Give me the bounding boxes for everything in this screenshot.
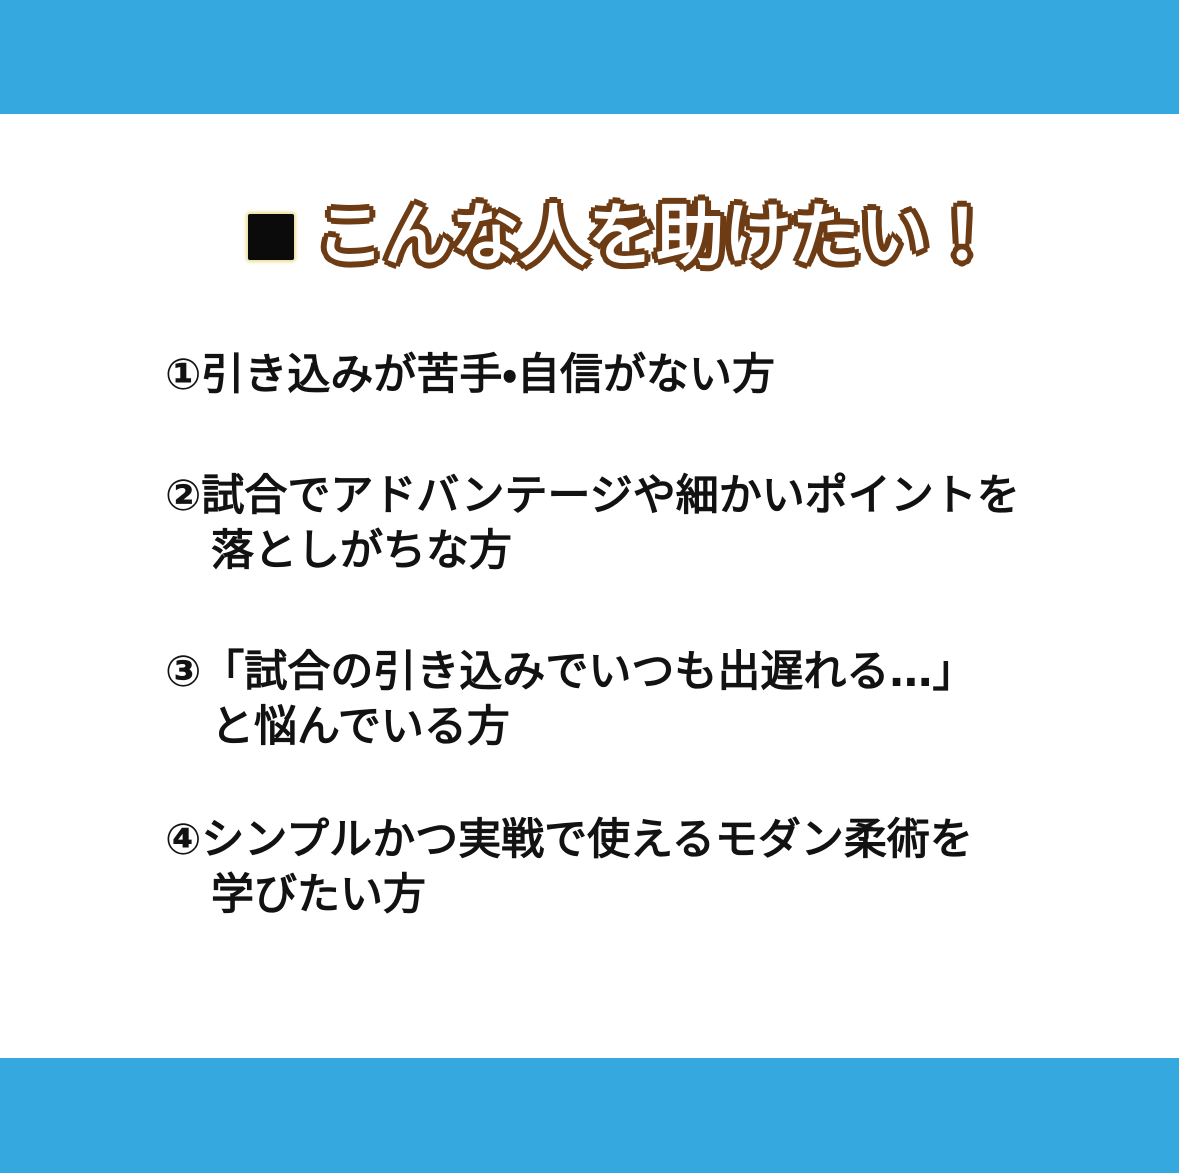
bullet-list: ①引き込みが苦手・自信がない方 ②試合でアドバンテージや細かいポイントを 落とし…	[165, 348, 1065, 923]
list-item: ②試合でアドバンテージや細かいポイントを 落としがちな方	[165, 469, 1065, 579]
decorative-top-band	[0, 0, 1179, 114]
list-item-line: ②試合でアドバンテージや細かいポイントを	[165, 469, 1065, 524]
slide-canvas: こんな人を助けたい！ ①引き込みが苦手・自信がない方 ②試合でアドバンテージや細…	[0, 0, 1179, 1173]
list-item-line: ③「試合の引き込みでいつも出遅れる…」	[165, 645, 1065, 700]
list-item-line-continued: と悩んでいる方	[165, 700, 1065, 755]
list-item: ③「試合の引き込みでいつも出遅れる…」 と悩んでいる方	[165, 645, 1065, 755]
black-square-bullet-icon	[248, 214, 294, 260]
list-item-line-continued: 落としがちな方	[165, 524, 1065, 579]
list-item-line: ①引き込みが苦手・自信がない方	[165, 348, 1065, 403]
list-item: ①引き込みが苦手・自信がない方	[165, 348, 1065, 403]
slide-heading: こんな人を助けたい！	[248, 203, 996, 271]
page-title: こんな人を助けたい！	[316, 203, 996, 271]
list-item-line-continued: 学びたい方	[165, 868, 1065, 923]
list-item: ④シンプルかつ実戦で使えるモダン柔術を 学びたい方	[165, 813, 1065, 923]
list-item-line: ④シンプルかつ実戦で使えるモダン柔術を	[165, 813, 1065, 868]
decorative-bottom-band	[0, 1058, 1179, 1173]
